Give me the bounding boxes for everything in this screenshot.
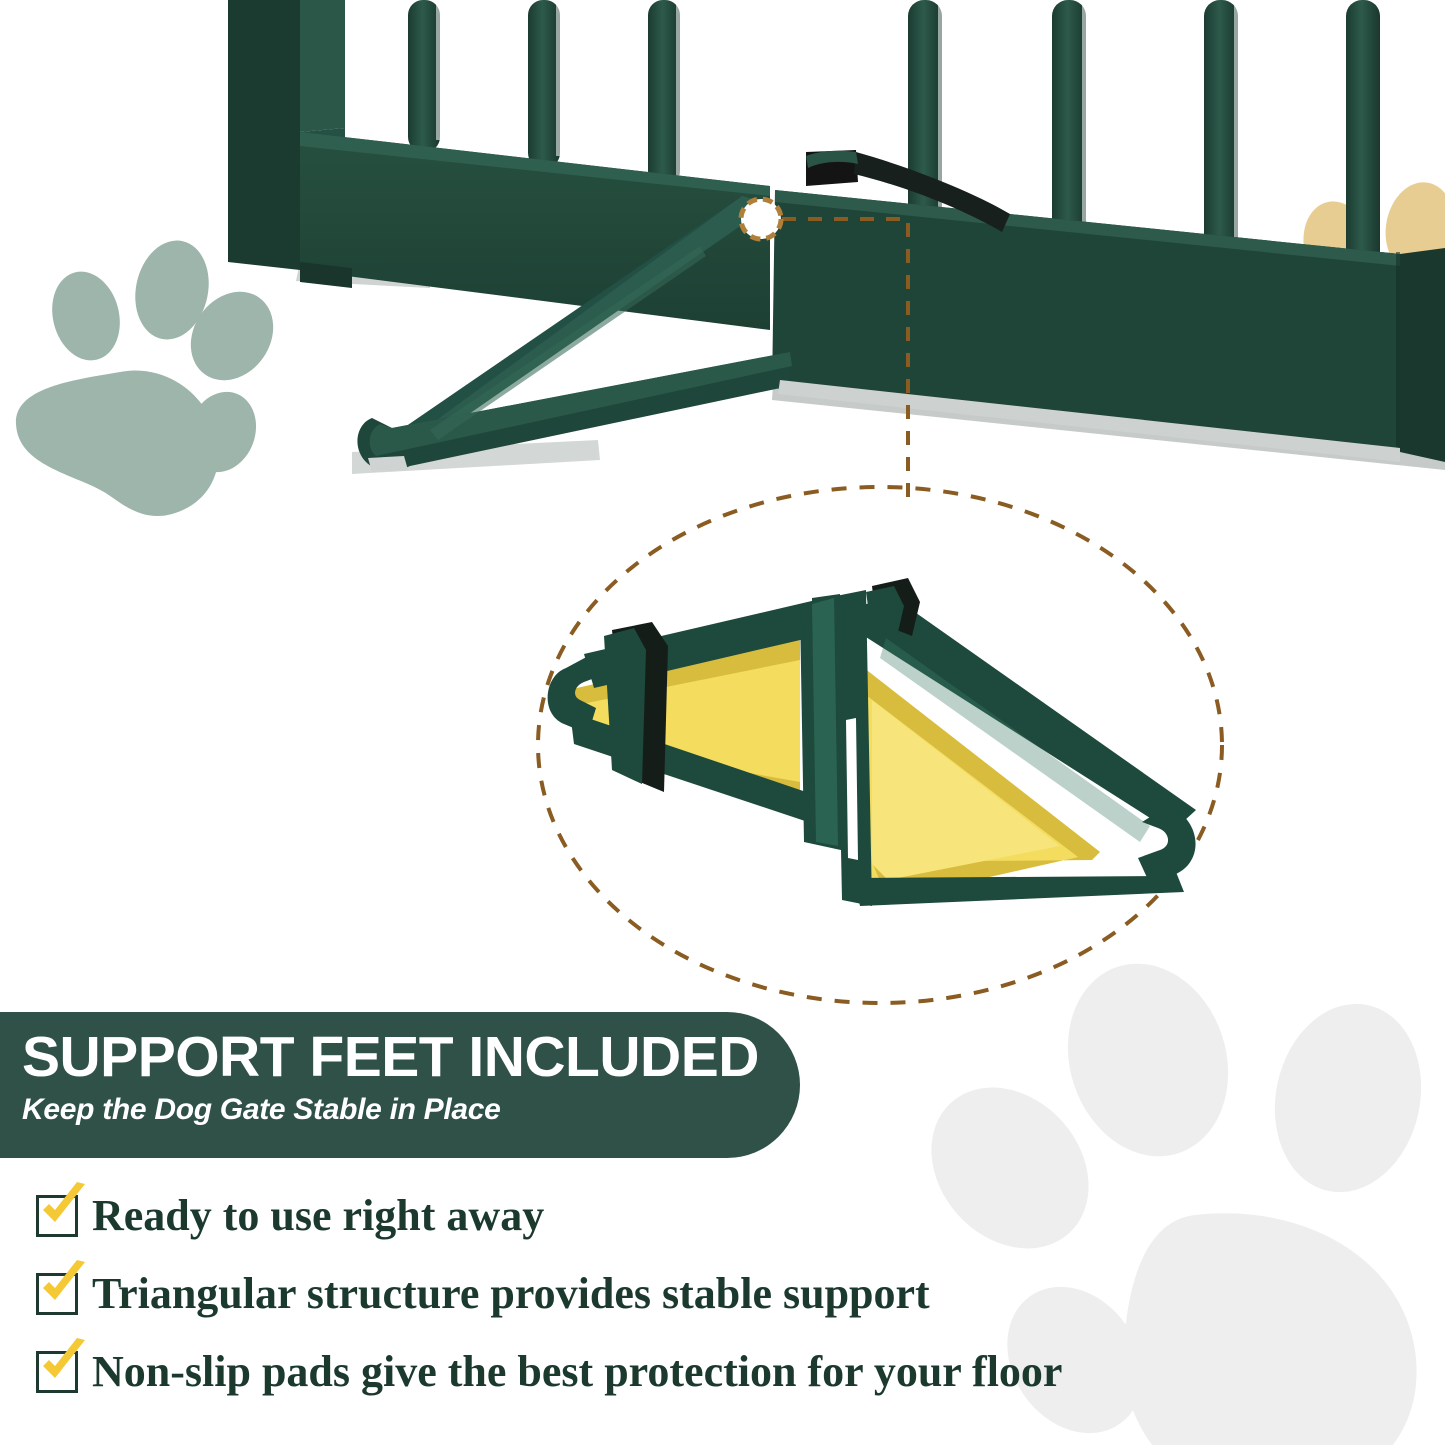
- feature-label: Triangular structure provides stable sup…: [92, 1269, 930, 1319]
- feature-label: Ready to use right away: [92, 1191, 544, 1241]
- checkbox-checked-icon: [36, 1273, 78, 1315]
- feature-label: Non-slip pads give the best protection f…: [92, 1347, 1062, 1397]
- headline-banner: SUPPORT FEET INCLUDED Keep the Dog Gate …: [0, 1012, 800, 1158]
- banner-title: SUPPORT FEET INCLUDED: [22, 1026, 800, 1088]
- feature-item: Triangular structure provides stable sup…: [36, 1261, 1236, 1327]
- callout-origin-dot: [741, 199, 781, 239]
- feature-item: Non-slip pads give the best protection f…: [36, 1339, 1236, 1405]
- checkbox-checked-icon: [36, 1195, 78, 1237]
- feature-item: Ready to use right away: [36, 1183, 1236, 1249]
- banner-subtitle: Keep the Dog Gate Stable in Place: [22, 1090, 800, 1130]
- feature-list: Ready to use right away Triangular struc…: [36, 1183, 1236, 1417]
- support-feet-detail: [538, 578, 1196, 906]
- infographic-canvas: SUPPORT FEET INCLUDED Keep the Dog Gate …: [0, 0, 1445, 1445]
- support-feet-center-joint: [800, 598, 850, 852]
- callout-leader-line: [782, 219, 908, 498]
- checkbox-checked-icon: [36, 1351, 78, 1393]
